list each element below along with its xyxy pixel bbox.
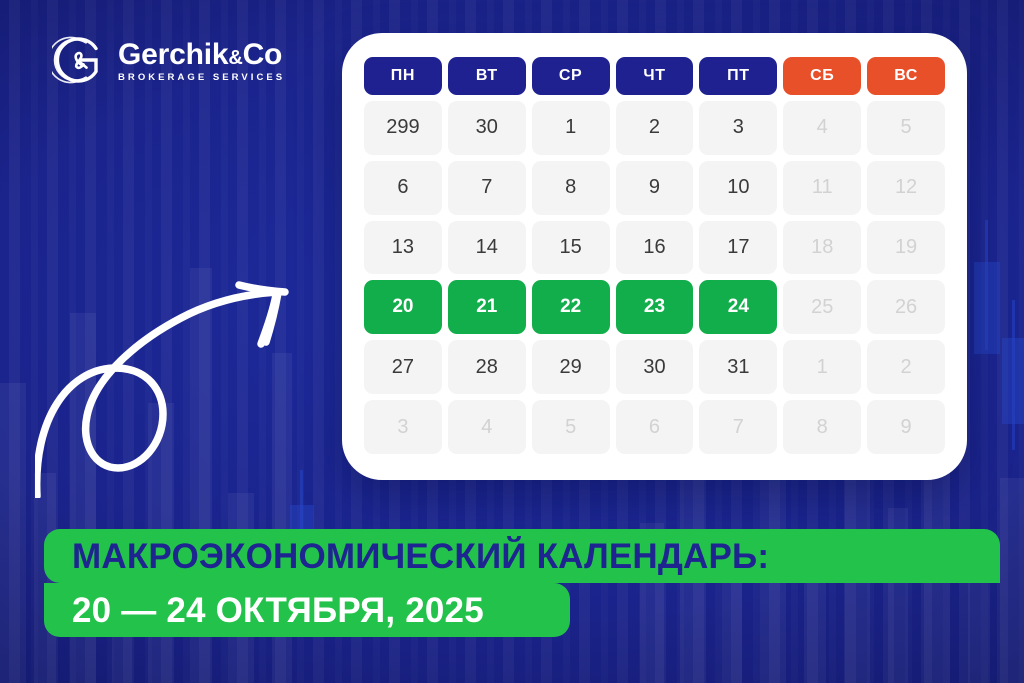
day-header-tue: ВТ (448, 57, 526, 95)
brand-tagline: BROKERAGE SERVICES (118, 73, 285, 83)
day-header-sat: СБ (783, 57, 861, 95)
day-header-wed: СР (532, 57, 610, 95)
day-header-fri: ПТ (699, 57, 777, 95)
day-cell[interactable]: 11 (783, 161, 861, 215)
day-cell[interactable]: 16 (616, 221, 694, 275)
day-cell[interactable]: 8 (783, 400, 861, 454)
day-cell-selected[interactable]: 23 (616, 280, 694, 334)
day-cell[interactable]: 15 (532, 221, 610, 275)
day-header-thu: ЧТ (616, 57, 694, 95)
day-cell[interactable]: 30 (448, 101, 526, 155)
day-cell[interactable]: 3 (364, 400, 442, 454)
day-cell[interactable]: 28 (448, 340, 526, 394)
day-cell[interactable]: 10 (699, 161, 777, 215)
poster-canvas: Gerchik&Co BROKERAGE SERVICES ПН ВТ СР Ч… (0, 0, 1024, 683)
day-cell[interactable]: 5 (867, 101, 945, 155)
day-cell[interactable]: 299 (364, 101, 442, 155)
day-cell-selected[interactable]: 22 (532, 280, 610, 334)
day-cell-selected[interactable]: 21 (448, 280, 526, 334)
day-cell[interactable]: 31 (699, 340, 777, 394)
day-cell[interactable]: 13 (364, 221, 442, 275)
hand-drawn-looping-growth-arrow-icon (35, 268, 335, 498)
title-banner-line-2: 20 — 24 ОКТЯБРЯ, 2025 (44, 583, 570, 637)
day-cell[interactable]: 27 (364, 340, 442, 394)
day-cell[interactable]: 25 (783, 280, 861, 334)
day-cell[interactable]: 6 (364, 161, 442, 215)
day-cell[interactable]: 12 (867, 161, 945, 215)
brand-logo-text: Gerchik&Co BROKERAGE SERVICES (118, 37, 285, 83)
day-cell[interactable]: 5 (532, 400, 610, 454)
day-cell[interactable]: 4 (783, 101, 861, 155)
title-banner-line-1: МАКРОЭКОНОМИЧЕСКИЙ КАЛЕНДАРЬ: (44, 529, 1000, 583)
day-cell[interactable]: 7 (448, 161, 526, 215)
day-cell[interactable]: 18 (783, 221, 861, 275)
day-cell-selected[interactable]: 24 (699, 280, 777, 334)
day-cell[interactable]: 9 (867, 400, 945, 454)
day-cell[interactable]: 4 (448, 400, 526, 454)
brand-name: Gerchik&Co (118, 40, 285, 70)
ampersand-glyph: & (228, 47, 242, 69)
day-cell[interactable]: 1 (532, 101, 610, 155)
title-text-dates: 20 — 24 ОКТЯБРЯ, 2025 (72, 593, 484, 628)
day-header-sun: ВС (867, 57, 945, 95)
day-cell[interactable]: 7 (699, 400, 777, 454)
calendar-card: ПН ВТ СР ЧТ ПТ СБ ВС 299 30 1 2 3 4 5 6 … (342, 33, 967, 480)
day-cell[interactable]: 6 (616, 400, 694, 454)
day-cell[interactable]: 14 (448, 221, 526, 275)
calendar-grid: ПН ВТ СР ЧТ ПТ СБ ВС 299 30 1 2 3 4 5 6 … (364, 57, 945, 454)
day-cell-selected[interactable]: 20 (364, 280, 442, 334)
day-cell[interactable]: 30 (616, 340, 694, 394)
day-cell[interactable]: 2 (867, 340, 945, 394)
title-text-primary: МАКРОЭКОНОМИЧЕСКИЙ КАЛЕНДАРЬ: (72, 539, 769, 574)
day-cell[interactable]: 19 (867, 221, 945, 275)
day-cell[interactable]: 9 (616, 161, 694, 215)
day-cell[interactable]: 3 (699, 101, 777, 155)
day-cell[interactable]: 1 (783, 340, 861, 394)
brand-logo[interactable]: Gerchik&Co BROKERAGE SERVICES (52, 34, 285, 86)
day-cell[interactable]: 29 (532, 340, 610, 394)
day-cell[interactable]: 2 (616, 101, 694, 155)
day-cell[interactable]: 8 (532, 161, 610, 215)
title-banner: МАКРОЭКОНОМИЧЕСКИЙ КАЛЕНДАРЬ: 20 — 24 ОК… (44, 529, 1000, 637)
day-header-mon: ПН (364, 57, 442, 95)
gerchik-circle-g-ampersand-logo-icon (52, 34, 104, 86)
day-cell[interactable]: 17 (699, 221, 777, 275)
day-cell[interactable]: 26 (867, 280, 945, 334)
